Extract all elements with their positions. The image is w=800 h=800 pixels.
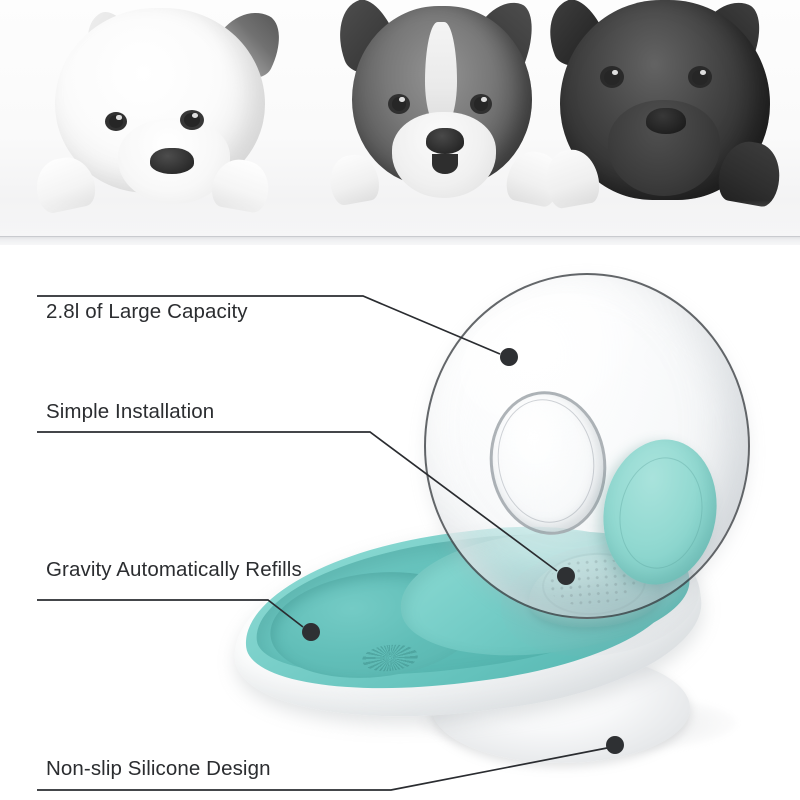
puppy-center-eye-right — [470, 94, 492, 114]
puppy-photo-banner — [0, 0, 800, 245]
puppy-left-nose — [150, 148, 194, 174]
callout-label-silicone: Non-slip Silicone Design — [46, 757, 271, 781]
product-illustration — [0, 245, 800, 800]
puppy-center-mouth — [432, 154, 458, 174]
puppy-right-eye-right — [688, 66, 712, 88]
photo-ledge — [0, 236, 800, 245]
callout-label-capacity: 2.8l of Large Capacity — [46, 300, 248, 324]
infographic-stage: 2.8l of Large Capacity Simple Installati… — [0, 0, 800, 800]
puppy-right-eye-left — [600, 66, 624, 88]
puppy-right-nose — [646, 108, 686, 134]
puppy-left-eye-left — [105, 112, 127, 131]
photo-ledge-line — [0, 236, 800, 237]
callout-label-installation: Simple Installation — [46, 400, 214, 424]
puppy-left-eye-right — [180, 110, 204, 130]
puppy-center-eye-left — [388, 94, 410, 114]
callout-label-gravity: Gravity Automatically Refills — [46, 558, 302, 582]
puppy-center-nose — [426, 128, 464, 154]
